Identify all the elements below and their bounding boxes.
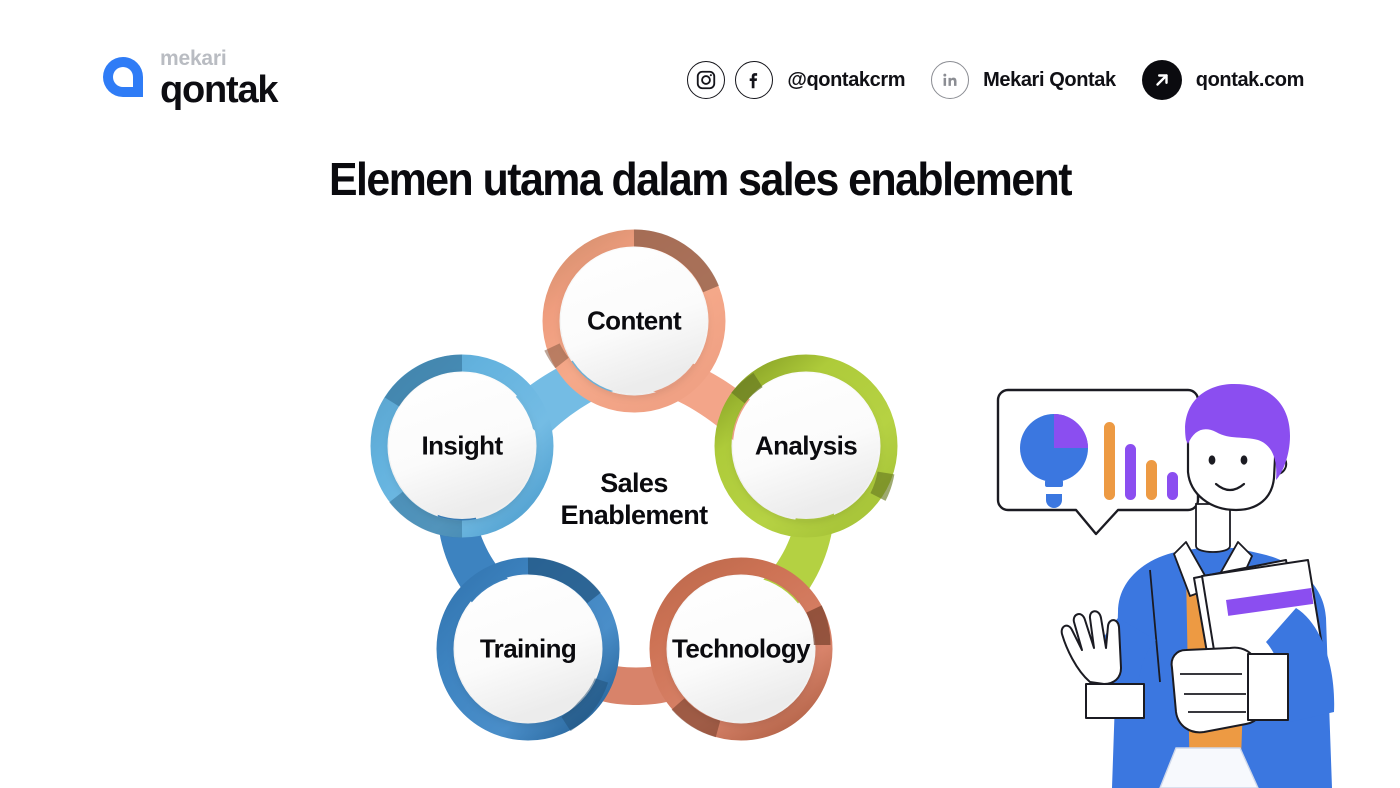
facebook-icon[interactable] xyxy=(735,61,773,99)
page-title: Elemen utama dalam sales enablement xyxy=(49,152,1351,206)
node-technology[interactable] xyxy=(658,566,824,732)
brand-name-top: mekari xyxy=(160,48,277,69)
instagram-handle[interactable]: @qontakcrm xyxy=(787,69,905,92)
social-links: @qontakcrm Mekari Qontak qontak.com xyxy=(687,58,1304,102)
diagram-svg xyxy=(366,225,906,755)
slide-canvas: mekari qontak @qontakcrm xyxy=(0,0,1400,788)
qontak-logo-icon xyxy=(100,54,146,104)
illustration-svg xyxy=(990,382,1400,788)
linkedin-icon[interactable] xyxy=(931,61,969,99)
node-analysis[interactable] xyxy=(723,363,889,529)
header-bar: mekari qontak @qontakcrm xyxy=(0,0,1400,130)
node-content[interactable] xyxy=(551,238,717,404)
brand-name-bottom: qontak xyxy=(160,71,277,109)
brand-logo[interactable]: mekari qontak xyxy=(100,48,277,109)
linkedin-label[interactable]: Mekari Qontak xyxy=(983,69,1116,92)
businessman-illustration xyxy=(990,382,1400,788)
sales-enablement-cycle-diagram: Content Analysis Technology Training Ins… xyxy=(366,225,906,755)
instagram-icon[interactable] xyxy=(687,61,725,99)
node-insight[interactable] xyxy=(379,363,545,529)
website-label[interactable]: qontak.com xyxy=(1196,69,1304,92)
node-training[interactable] xyxy=(445,566,611,732)
arrow-up-right-icon[interactable] xyxy=(1142,60,1182,100)
analytics-speech-bubble xyxy=(998,390,1198,534)
